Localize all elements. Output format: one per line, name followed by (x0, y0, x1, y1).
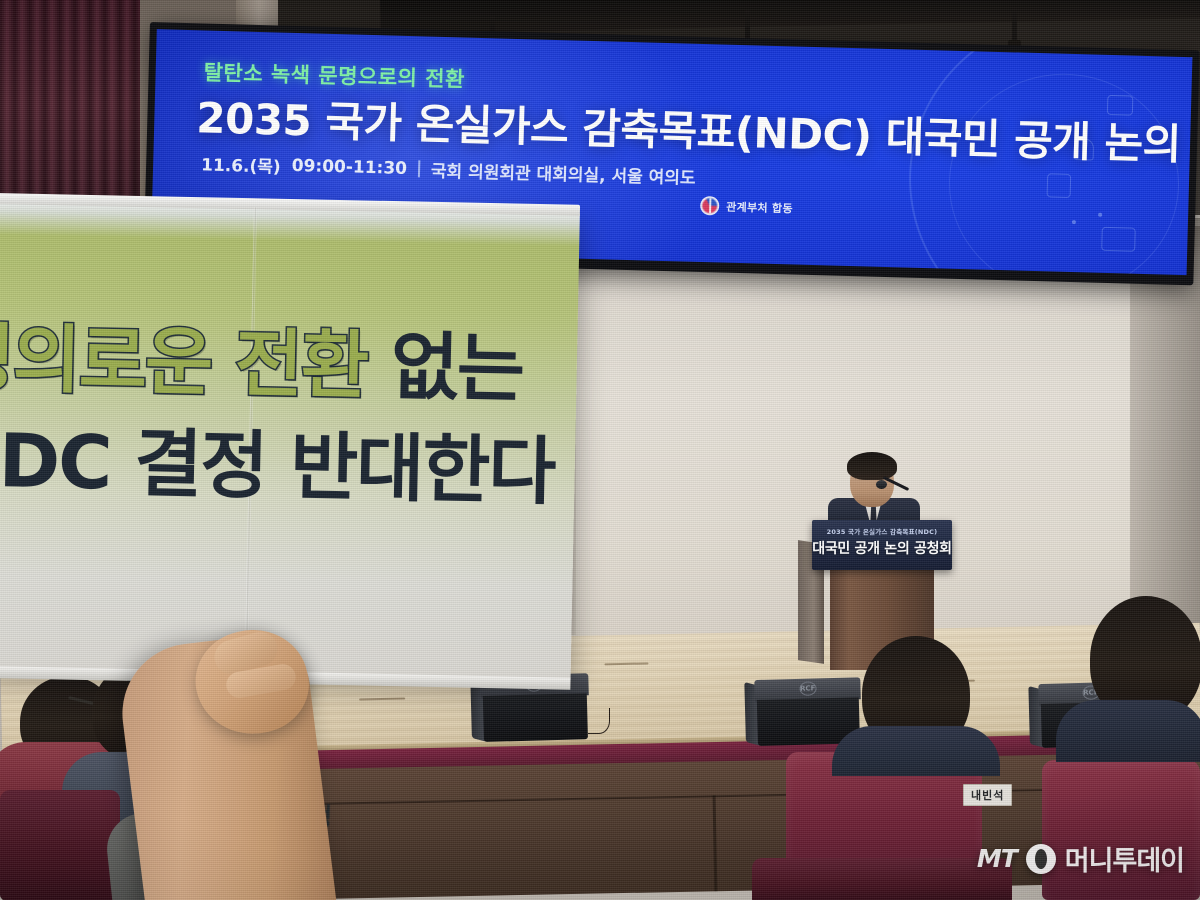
screen-deco-dot (1098, 213, 1102, 217)
podium-subtitle: 2035 국가 온실가스 감축목표(NDC) (812, 526, 952, 536)
screen-organizer-label: 관계부처 합동 (726, 198, 793, 216)
money-today-o-logo-icon (1026, 844, 1056, 874)
placard-line-1: 정의로운 전환 없는 (0, 321, 587, 408)
photo-canvas: 탈탄소 녹색 문명으로의 전환 2035 국가 온실가스 감축목표(NDC) 대… (0, 0, 1200, 900)
seat-vip-right (1042, 760, 1200, 900)
microphone-head-icon (876, 480, 887, 489)
screen-deco-icon-building (1101, 227, 1136, 252)
screen-separator (418, 160, 420, 177)
taegeuk-emblem-icon (700, 196, 720, 216)
protest-placard: 정의로운 전환 없는 NDC 결정 반대한다 Climate Justice 기… (0, 202, 580, 680)
seat-label-vip: 내빈석 (963, 784, 1012, 806)
seat-row-front (752, 858, 1012, 900)
barrier-vertical-seam (713, 795, 718, 891)
screen-deco-icon-plant (1047, 173, 1072, 198)
placard-line-1-highlight: 정의로운 전환 (0, 315, 368, 409)
seat-far-left (0, 790, 120, 900)
screen-date: 11.6.(목) (201, 150, 281, 177)
podium-front-panel: 2035 국가 온실가스 감축목표(NDC) 대국민 공개 논의 공청회 (812, 520, 952, 570)
wall-right-shadow (1130, 226, 1200, 646)
screen-time: 09:00-11:30 (291, 155, 407, 178)
placard-line-1-rest: 없는 (366, 324, 524, 413)
watermark-mt-mark: MT (977, 844, 1017, 873)
watermark: MT 머니투데이 (977, 839, 1184, 878)
placard-line-2: NDC 결정 반대한다 (0, 423, 599, 510)
monitor-grille (483, 693, 588, 742)
audience-shoulder-center (832, 726, 1000, 776)
podium-title: 대국민 공개 논의 공청회 (812, 538, 952, 558)
watermark-name: 머니투데이 (1065, 839, 1184, 878)
monitor-cable (588, 708, 610, 734)
audience-shoulder-right (1056, 700, 1200, 762)
screen-organizer-block: 관계부처 합동 (700, 196, 793, 217)
rcf-brand-logo-icon: RCF (799, 681, 816, 695)
